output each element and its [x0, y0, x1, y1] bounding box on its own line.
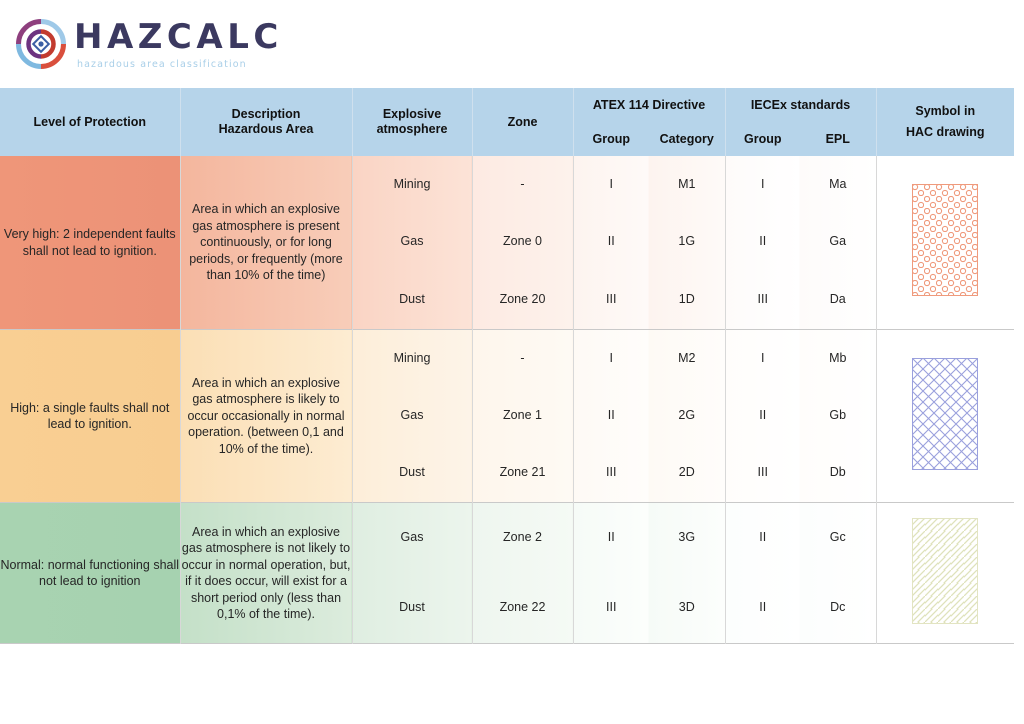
col-header-atex-directive: ATEX 114 Directive [573, 88, 725, 122]
cell-iecex-group-group: I II III [725, 330, 800, 503]
zone-1-crosshatch-rectangle-symbol [912, 358, 978, 470]
cell-atex-group: I [574, 330, 650, 388]
col-header-explosive-atmosphere: Explosive atmosphere [352, 88, 472, 156]
cell-iecex-epl: Ma [800, 156, 876, 214]
cell-zone-group: Zone 2 Zone 22 [472, 503, 573, 644]
cell-atex-category-group: M1 1G 1D [649, 156, 725, 330]
cell-atex-group-group: II III [573, 503, 649, 644]
cell-zone: Zone 0 [473, 214, 573, 270]
col-header-iecex-group: Group [725, 122, 800, 156]
cell-iecex-epl: Mb [800, 330, 876, 388]
table-row: Normal: normal functioning shall not lea… [0, 503, 1014, 644]
cell-description: Area in which an explosive gas atmospher… [180, 330, 352, 503]
cell-explosive-atmosphere-group: Mining Gas Dust [352, 156, 472, 330]
cell-atex-group: II [574, 214, 650, 270]
hazardous-area-classification-table: Level of Protection Description Hazardou… [0, 88, 1014, 644]
cell-iecex-epl: Gc [800, 503, 876, 573]
cell-iecex-group-group: I II III [725, 156, 800, 330]
cell-atmosphere: Mining [353, 330, 472, 388]
cell-description: Area in which an explosive gas atmospher… [180, 156, 352, 330]
cell-iecex-group-group: II II [725, 503, 800, 644]
col-header-symbol-line2: HAC drawing [877, 125, 1015, 140]
zone-0-dotted-rectangle-symbol [912, 184, 978, 296]
cell-iecex-epl-group: Mb Gb Db [800, 330, 876, 503]
cell-iecex-group: III [726, 270, 801, 329]
cell-atex-category-group: 3G 3D [649, 503, 725, 644]
col-header-symbol: Symbol in HAC drawing [876, 88, 1014, 156]
hazcalc-circular-logo-icon [15, 18, 67, 70]
cell-atex-category: 1G [649, 214, 725, 270]
cell-iecex-group: I [726, 156, 801, 214]
cell-symbol [876, 503, 1014, 644]
cell-atmosphere: Gas [353, 503, 472, 573]
cell-atex-group: I [574, 156, 650, 214]
cell-atex-category: M1 [649, 156, 725, 214]
cell-zone: Zone 20 [473, 270, 573, 329]
cell-iecex-epl: Da [800, 270, 876, 329]
cell-zone: - [473, 156, 573, 214]
cell-zone: - [473, 330, 573, 388]
col-header-level-of-protection: Level of Protection [0, 88, 180, 156]
zone-2-diagonal-hatch-rectangle-symbol [912, 518, 978, 624]
cell-atex-group: II [574, 503, 650, 573]
cell-zone: Zone 22 [473, 573, 573, 643]
cell-atex-category-group: M2 2G 2D [649, 330, 725, 503]
cell-atmosphere: Mining [353, 156, 472, 214]
col-header-atex-category: Category [649, 122, 725, 156]
cell-zone: Zone 21 [473, 444, 573, 502]
brand-wordmark: HAZCALC [74, 20, 404, 54]
cell-atex-category: 2G [649, 388, 725, 444]
cell-iecex-group: II [726, 214, 801, 270]
cell-explosive-atmosphere-group: Mining Gas Dust [352, 330, 472, 503]
col-header-iecex-standards: IECEx standards [725, 88, 876, 122]
cell-atmosphere: Dust [353, 573, 472, 643]
cell-zone-group: - Zone 0 Zone 20 [472, 156, 573, 330]
cell-atmosphere: Dust [353, 444, 472, 502]
cell-zone: Zone 1 [473, 388, 573, 444]
cell-atex-category: M2 [649, 330, 725, 388]
cell-atmosphere: Gas [353, 214, 472, 270]
cell-iecex-epl: Ga [800, 214, 876, 270]
cell-iecex-epl-group: Ma Ga Da [800, 156, 876, 330]
col-header-description: Description Hazardous Area [180, 88, 352, 156]
cell-symbol [876, 156, 1014, 330]
cell-iecex-group: I [726, 330, 801, 388]
cell-atex-group: III [574, 444, 650, 502]
col-header-symbol-line1: Symbol in [877, 104, 1015, 119]
col-header-zone: Zone [472, 88, 573, 156]
cell-description: Area in which an explosive gas atmospher… [180, 503, 352, 644]
cell-zone: Zone 2 [473, 503, 573, 573]
col-header-description-line1: Description [181, 107, 352, 122]
cell-atex-group-group: I II III [573, 156, 649, 330]
cell-atmosphere: Gas [353, 388, 472, 444]
cell-explosive-atmosphere-group: Gas Dust [352, 503, 472, 644]
cell-iecex-epl: Dc [800, 573, 876, 643]
cell-iecex-group: II [726, 503, 801, 573]
col-header-description-line2: Hazardous Area [181, 122, 352, 137]
cell-atex-category: 3G [649, 503, 725, 573]
cell-atex-category: 3D [649, 573, 725, 643]
cell-atex-category: 2D [649, 444, 725, 502]
brand-tagline: hazardous area classification [77, 59, 404, 71]
cell-iecex-group: III [726, 444, 801, 502]
col-header-iecex-epl: EPL [800, 122, 876, 156]
cell-atex-category: 1D [649, 270, 725, 329]
table-row: High: a single faults shall not lead to … [0, 330, 1014, 503]
col-header-atex-group: Group [573, 122, 649, 156]
col-header-explosive-line1: Explosive [353, 107, 472, 122]
cell-level-of-protection: Normal: normal functioning shall not lea… [0, 503, 180, 644]
cell-iecex-epl-group: Gc Dc [800, 503, 876, 644]
cell-zone-group: - Zone 1 Zone 21 [472, 330, 573, 503]
table-row: Very high: 2 independent faults shall no… [0, 156, 1014, 330]
cell-atex-group-group: I II III [573, 330, 649, 503]
cell-iecex-group: II [726, 573, 801, 643]
table-header: Level of Protection Description Hazardou… [0, 88, 1014, 156]
cell-atmosphere: Dust [353, 270, 472, 329]
cell-iecex-group: II [726, 388, 801, 444]
cell-atex-group: III [574, 270, 650, 329]
cell-iecex-epl: Gb [800, 388, 876, 444]
cell-level-of-protection: Very high: 2 independent faults shall no… [0, 156, 180, 330]
cell-atex-group: II [574, 388, 650, 444]
cell-symbol [876, 330, 1014, 503]
cell-iecex-epl: Db [800, 444, 876, 502]
cell-atex-group: III [574, 573, 650, 643]
col-header-explosive-line2: atmosphere [353, 122, 472, 137]
cell-level-of-protection: High: a single faults shall not lead to … [0, 330, 180, 503]
brand-header: HAZCALC hazardous area classification [0, 0, 1024, 88]
